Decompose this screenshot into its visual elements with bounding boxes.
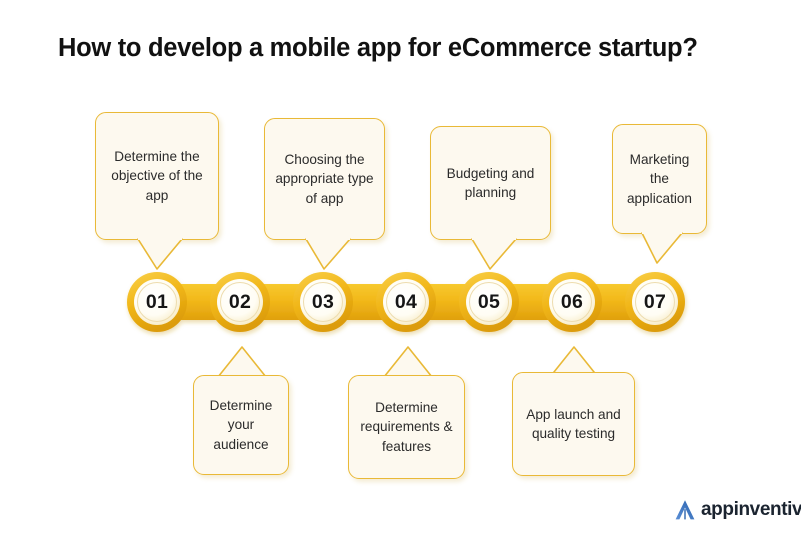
callout-card-bottom-1-label: Determine your audience [194, 396, 288, 455]
callout-card-top-2-label: Choosing the appropriate type of app [265, 150, 384, 209]
callout-tail-bottom-2 [378, 345, 438, 379]
appinventiv-logo[interactable]: appinventiv [672, 497, 801, 523]
callout-card-top-4[interactable]: Marketing the application [612, 124, 707, 234]
callout-card-bottom-1[interactable]: Determine your audience [193, 375, 289, 475]
step-chain-bar [118, 262, 696, 342]
callout-card-top-3-label: Budgeting and planning [431, 164, 550, 203]
appinventiv-a-mark-icon [672, 497, 698, 523]
callout-card-bottom-2[interactable]: Determine requirements & features [348, 375, 465, 479]
appinventiv-logo-text: appinventiv [701, 499, 801, 521]
callout-card-top-3[interactable]: Budgeting and planning [430, 126, 551, 240]
callout-card-top-1[interactable]: Determine the objective of the app [95, 112, 219, 240]
callout-card-top-2[interactable]: Choosing the appropriate type of app [264, 118, 385, 240]
callout-tail-top-4 [634, 232, 690, 266]
callout-tail-bottom-1 [212, 345, 272, 379]
callout-card-top-4-label: Marketing the application [613, 150, 706, 209]
callout-card-bottom-3[interactable]: App launch and quality testing [512, 372, 635, 476]
infographic-canvas: How to develop a mobile app for eCommerc… [0, 0, 801, 551]
page-title: How to develop a mobile app for eCommerc… [58, 34, 698, 63]
callout-card-top-1-label: Determine the objective of the app [96, 147, 218, 206]
callout-card-bottom-2-label: Determine requirements & features [349, 398, 464, 457]
callout-card-bottom-3-label: App launch and quality testing [513, 405, 634, 444]
